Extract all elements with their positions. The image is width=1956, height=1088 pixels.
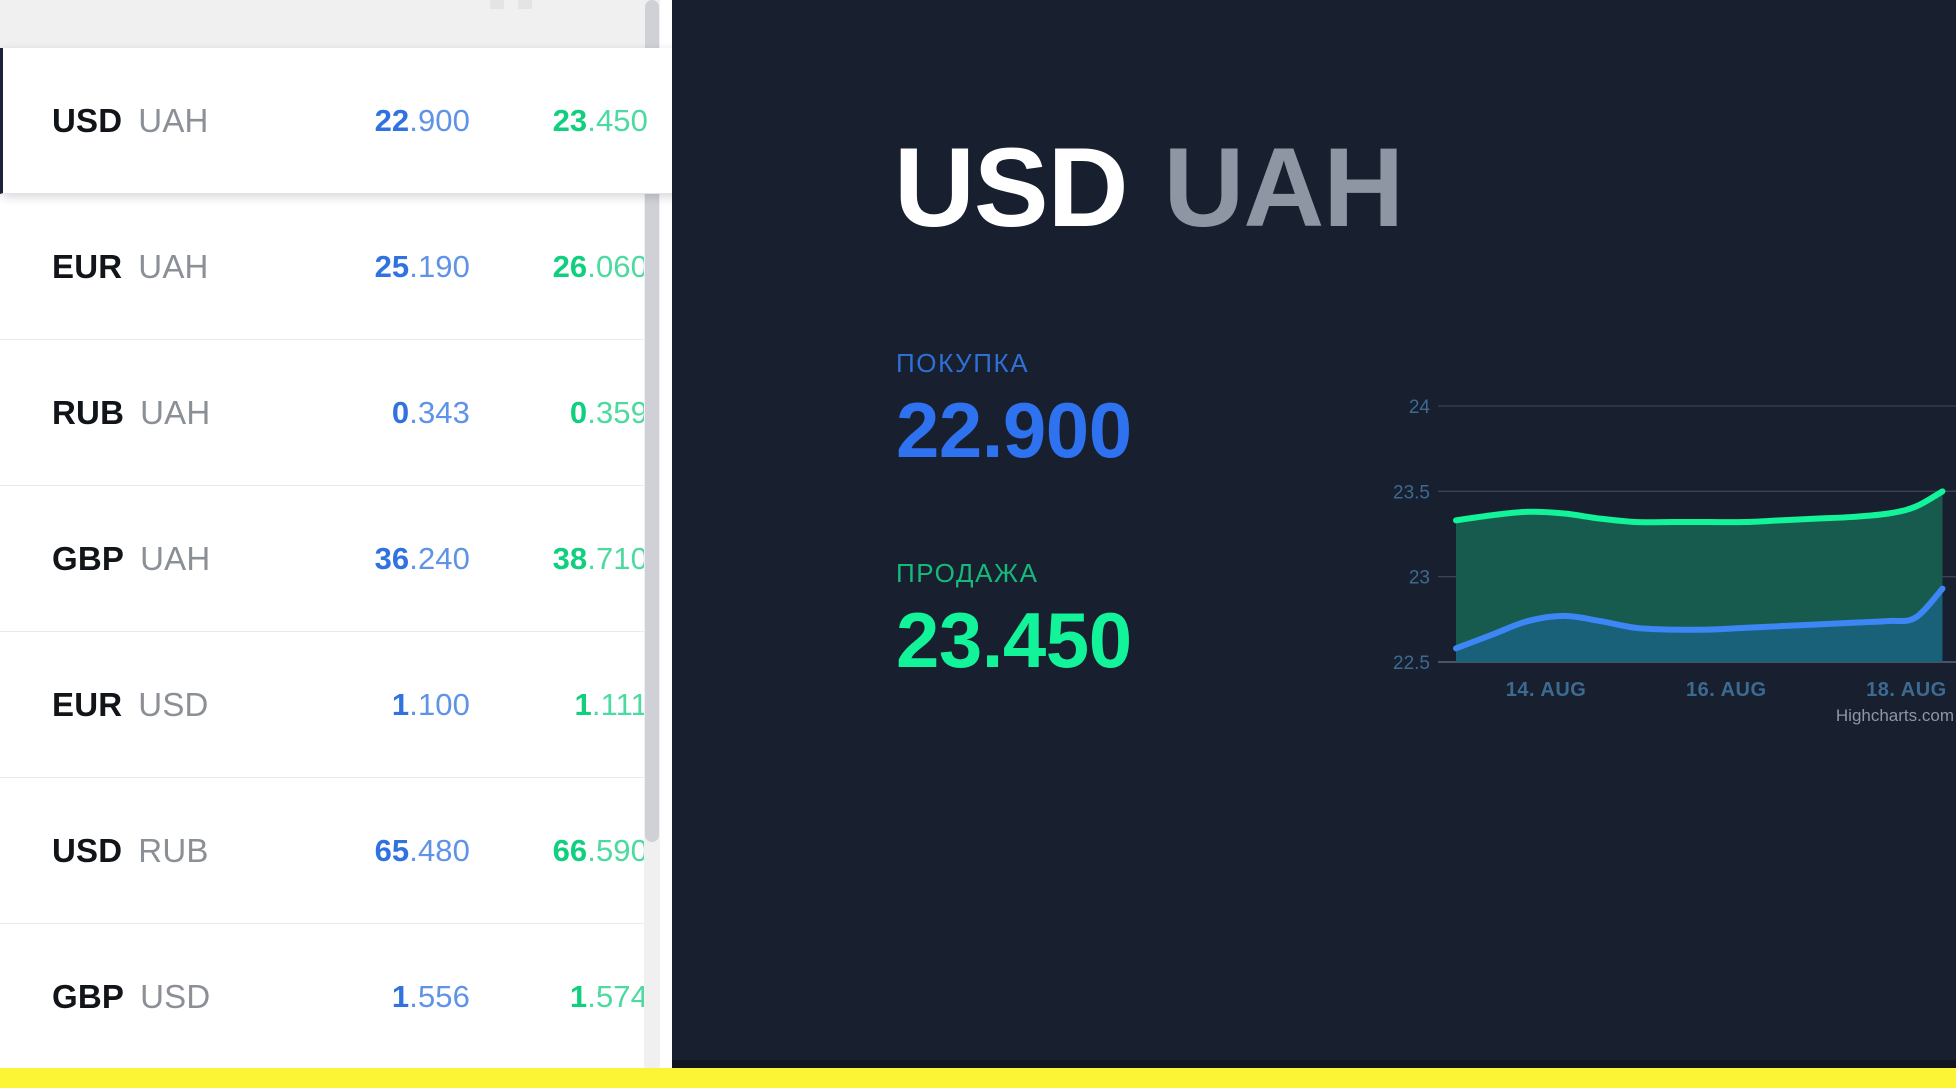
detail-pair-title: USD UAH — [894, 132, 1403, 244]
currency-pair: RUBUAH — [52, 394, 320, 432]
sell-price: 26.060 — [498, 249, 648, 285]
sell-price-frac: .450 — [587, 103, 648, 138]
pair-base-code: EUR — [52, 686, 122, 724]
bottom-accent-bar — [0, 1068, 1956, 1088]
sell-price: 0.359 — [498, 395, 648, 431]
currency-pair: USDRUB — [52, 832, 320, 870]
rates-list-panel: USDUAH22.90023.450EURUAH25.19026.060RUBU… — [0, 0, 672, 1068]
pair-base-code: USD — [52, 102, 122, 140]
sell-price-whole: 23 — [553, 103, 588, 138]
x-axis-tick-label: 18. AUG — [1866, 679, 1947, 701]
buy-price: 36.240 — [320, 541, 470, 577]
sell-price-whole: 1 — [575, 687, 592, 722]
y-axis-tick-label: 24 — [1409, 397, 1431, 418]
sell-price-whole: 0 — [570, 395, 587, 430]
buy-price-whole: 22 — [375, 103, 410, 138]
buy-price: 65.480 — [320, 833, 470, 869]
rate-history-chart[interactable]: 22.52323.52414. AUG16. AUG18. AUG Highch… — [1384, 392, 1956, 728]
sell-value: 23.450 — [896, 601, 1132, 679]
rate-row-gbp-usd[interactable]: GBPUSD1.5561.574 — [0, 924, 660, 1068]
buy-price: 1.556 — [320, 979, 470, 1015]
rate-detail-panel: USD UAH ПОКУПКА 22.900 ПРОДАЖА 23.450 22… — [672, 0, 1956, 1068]
sell-price: 23.450 — [498, 103, 648, 139]
detail-pair-base: USD — [894, 132, 1127, 244]
pair-base-code: RUB — [52, 394, 124, 432]
rate-row-usd-uah[interactable]: USDUAH22.90023.450 — [0, 48, 672, 194]
pair-quote-code: UAH — [138, 248, 208, 286]
buy-price-whole: 36 — [375, 541, 410, 576]
partial-icon-b — [518, 0, 532, 9]
currency-pair: GBPUAH — [52, 540, 320, 578]
buy-label: ПОКУПКА — [896, 348, 1132, 379]
pair-quote-code: USD — [140, 978, 210, 1016]
sell-price-whole: 26 — [553, 249, 588, 284]
sell-price-whole: 38 — [553, 541, 588, 576]
sell-price-frac: .111 — [592, 687, 648, 722]
buy-price: 0.343 — [320, 395, 470, 431]
sell-price-frac: .574 — [587, 979, 648, 1014]
sell-label: ПРОДАЖА — [896, 558, 1132, 589]
rate-row-rub-uah[interactable]: RUBUAH0.3430.359 — [0, 340, 660, 486]
x-axis-tick-label: 14. AUG — [1506, 679, 1587, 701]
sell-price-whole: 1 — [570, 979, 587, 1014]
panel-bottom-strip — [672, 1060, 1956, 1068]
buy-quote-block: ПОКУПКА 22.900 — [896, 348, 1132, 469]
buy-price-whole: 25 — [375, 249, 410, 284]
buy-price-frac: .480 — [409, 833, 470, 868]
buy-value: 22.900 — [896, 391, 1132, 469]
sell-price: 66.590 — [498, 833, 648, 869]
currency-pair: EURUAH — [52, 248, 320, 286]
buy-price-whole: 65 — [375, 833, 410, 868]
pair-base-code: EUR — [52, 248, 122, 286]
sell-quote-block: ПРОДАЖА 23.450 — [896, 558, 1132, 679]
partial-header-icons — [490, 0, 580, 14]
pair-base-code: USD — [52, 832, 122, 870]
sell-price-whole: 66 — [553, 833, 588, 868]
sell-price-frac: .590 — [587, 833, 648, 868]
buy-price-frac: .900 — [409, 103, 470, 138]
sell-price: 38.710 — [498, 541, 648, 577]
highcharts-credit[interactable]: Highcharts.com — [1836, 706, 1954, 726]
rate-row-eur-usd[interactable]: EURUSD1.1001.111 — [0, 632, 660, 778]
pair-quote-code: UAH — [140, 394, 210, 432]
buy-price-frac: .100 — [409, 687, 470, 722]
currency-pair: EURUSD — [52, 686, 320, 724]
sell-price: 1.111 — [498, 687, 648, 723]
x-axis-tick-label: 16. AUG — [1686, 679, 1767, 701]
buy-price: 22.900 — [320, 103, 470, 139]
detail-pair-quote: UAH — [1163, 132, 1403, 244]
rate-row-eur-uah[interactable]: EURUAH25.19026.060 — [0, 194, 660, 340]
exchange-rates-screen: USDUAH22.90023.450EURUAH25.19026.060RUBU… — [0, 0, 1956, 1088]
rate-rows-container: USDUAH22.90023.450EURUAH25.19026.060RUBU… — [0, 48, 660, 1068]
pair-quote-code: USD — [138, 686, 208, 724]
pair-base-code: GBP — [52, 978, 124, 1016]
buy-price-frac: .240 — [409, 541, 470, 576]
buy-price-whole: 0 — [392, 395, 409, 430]
buy-price: 25.190 — [320, 249, 470, 285]
pair-quote-code: UAH — [138, 102, 208, 140]
buy-price-frac: .343 — [409, 395, 470, 430]
y-axis-tick-label: 22.5 — [1393, 653, 1430, 674]
partial-icon-a — [490, 0, 504, 9]
buy-price-frac: .556 — [409, 979, 470, 1014]
buy-price-frac: .190 — [409, 249, 470, 284]
buy-price: 1.100 — [320, 687, 470, 723]
rate-row-gbp-uah[interactable]: GBPUAH36.24038.710 — [0, 486, 660, 632]
buy-price-whole: 1 — [392, 687, 409, 722]
sell-price: 1.574 — [498, 979, 648, 1015]
currency-pair: GBPUSD — [52, 978, 320, 1016]
pair-base-code: GBP — [52, 540, 124, 578]
pair-quote-code: RUB — [138, 832, 208, 870]
y-axis-tick-label: 23.5 — [1393, 482, 1430, 503]
rate-row-usd-rub[interactable]: USDRUB65.48066.590 — [0, 778, 660, 924]
sell-price-frac: .359 — [587, 395, 648, 430]
currency-pair: USDUAH — [52, 102, 320, 140]
chart-svg: 22.52323.52414. AUG16. AUG18. AUG — [1384, 392, 1956, 728]
y-axis-tick-label: 23 — [1409, 568, 1430, 589]
pair-quote-code: UAH — [140, 540, 210, 578]
buy-price-whole: 1 — [392, 979, 409, 1014]
sell-price-frac: .060 — [587, 249, 648, 284]
sell-price-frac: .710 — [587, 541, 648, 576]
